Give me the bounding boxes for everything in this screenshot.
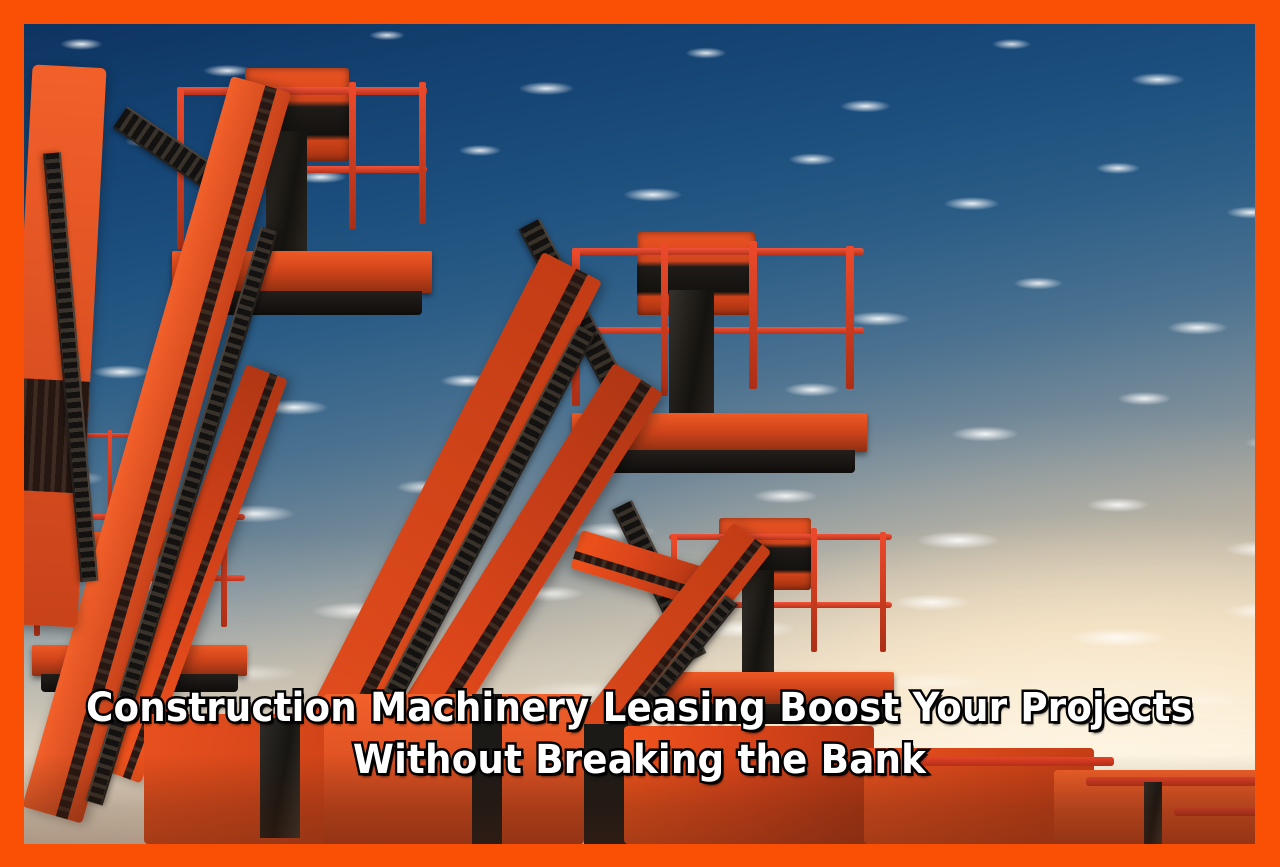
machinery-group [24, 24, 1255, 844]
basket-top-rail [572, 248, 864, 255]
basket-post [846, 246, 854, 390]
basket-post [419, 82, 426, 224]
ground-shadow [24, 754, 1255, 844]
basket-underside [673, 704, 885, 724]
basket-top-rail [669, 534, 892, 540]
basket-post [880, 532, 886, 652]
basket-post [661, 243, 669, 396]
basket-top-rail [177, 87, 427, 95]
basket-mid-rail [572, 327, 864, 334]
basket-post [349, 82, 356, 229]
basket-support-column [669, 290, 713, 420]
basket-post [811, 528, 817, 652]
hero-photograph: Construction Machinery Leasing Boost You… [24, 24, 1255, 844]
image-banner: Construction Machinery Leasing Boost You… [0, 0, 1280, 867]
basket-post [749, 241, 757, 389]
basket-support-column [742, 570, 774, 678]
basket-deck [664, 672, 894, 706]
